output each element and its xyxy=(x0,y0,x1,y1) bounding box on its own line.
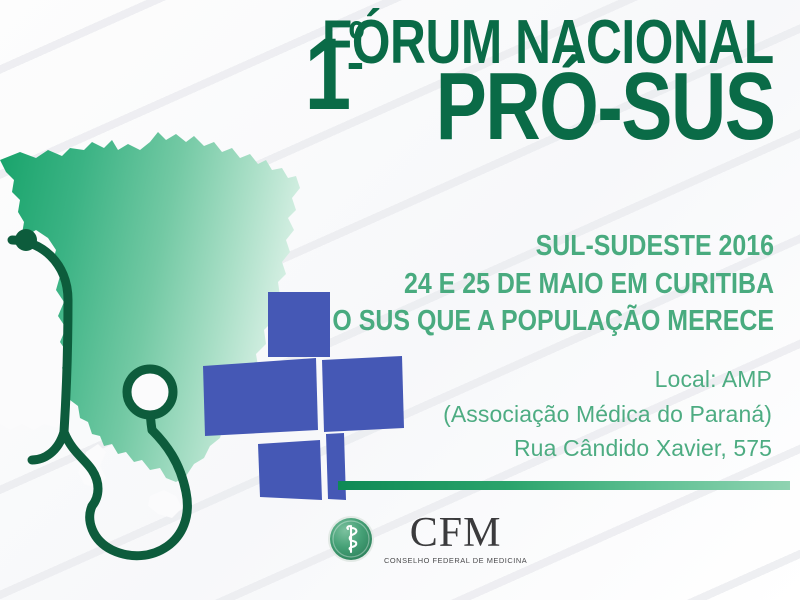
subtitle-line-slogan: O SUS QUE A POPULAÇÃO MERECE xyxy=(292,303,774,341)
venue-line-institution: (Associação Médica do Paraná) xyxy=(212,397,772,432)
divider-rule xyxy=(338,481,790,490)
poster-canvas: FÓRUM NACIONAL PRÓ-SUS 1º SUL-SUDESTE 20… xyxy=(0,0,800,600)
venue-line-name: Local: AMP xyxy=(212,362,772,397)
cfm-text-block: CFM CONSELHO FEDERAL DE MEDICINA xyxy=(384,512,527,565)
subtitle-line-region: SUL-SUDESTE 2016 xyxy=(292,228,774,266)
stethoscope-earpiece xyxy=(15,229,37,251)
title-pro-sus: PRÓ-SUS xyxy=(435,65,774,149)
ordinal-suffix: º xyxy=(349,11,362,70)
stethoscope-diaphragm xyxy=(127,369,173,415)
edition-number: 1 xyxy=(305,17,349,131)
edition-ordinal: 1º xyxy=(292,16,362,133)
subtitle-block: SUL-SUDESTE 2016 24 E 25 DE MAIO EM CURI… xyxy=(214,228,774,341)
venue-line-address: Rua Cândido Xavier, 575 xyxy=(212,431,772,466)
cfm-logo: CFM CONSELHO FEDERAL DE MEDICINA xyxy=(327,512,527,565)
cfm-letters: CFM xyxy=(410,512,502,554)
rod-of-asclepius-emblem xyxy=(327,515,375,563)
venue-block: Local: AMP (Associação Médica do Paraná)… xyxy=(212,362,772,466)
subtitle-line-dates: 24 E 25 DE MAIO EM CURITIBA xyxy=(292,266,774,304)
cfm-tagline: CONSELHO FEDERAL DE MEDICINA xyxy=(384,556,527,565)
